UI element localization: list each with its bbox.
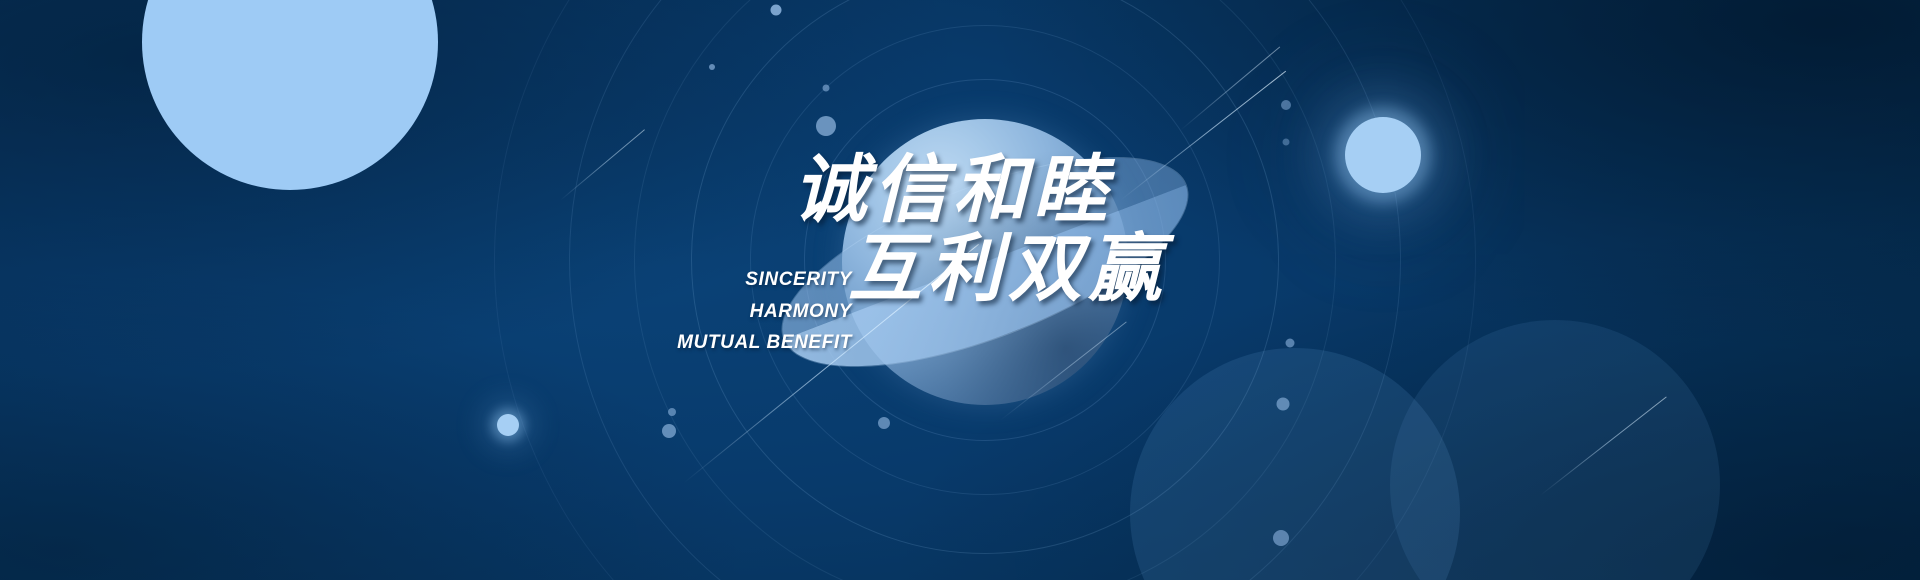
headline-line-2: 互利双赢 xyxy=(848,232,1168,306)
hero-banner: 诚信和睦 互利双赢 SINCERITY HARMONY MUTUAL BENEF… xyxy=(0,0,1920,580)
headline-line-1: 诚信和睦 xyxy=(793,153,1113,227)
tagline-line-1: SINCERITY xyxy=(745,270,852,289)
headline-block: 诚信和睦 互利双赢 SINCERITY HARMONY MUTUAL BENEF… xyxy=(0,0,1920,580)
tagline-line-3: MUTUAL BENEFIT xyxy=(677,333,852,352)
tagline-line-2: HARMONY xyxy=(750,302,852,321)
